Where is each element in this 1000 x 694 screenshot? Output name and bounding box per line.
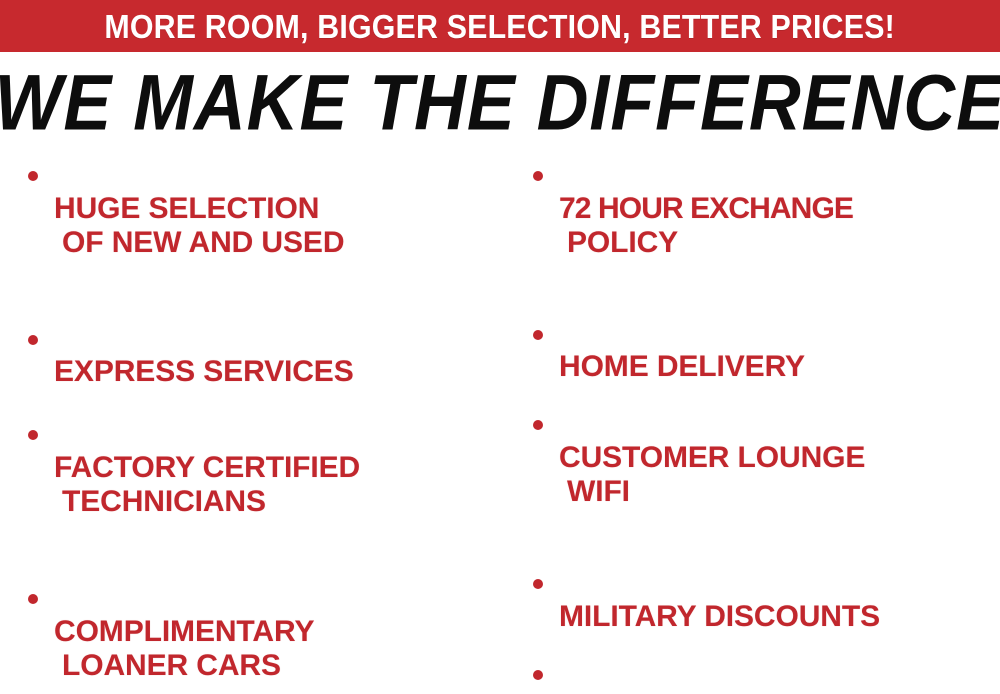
list-item: FACTORY CERTIFIED TECHNICIANS — [22, 417, 494, 553]
promo-poster: MORE ROOM, BIGGER SELECTION, BETTER PRIC… — [0, 0, 1000, 694]
top-banner: MORE ROOM, BIGGER SELECTION, BETTER PRIC… — [0, 0, 1000, 52]
list-item-line2: OF NEW AND USED — [54, 226, 494, 260]
list-item-line1: HOME DELIVERY — [559, 350, 805, 383]
list-item-line2: LOANER CARS — [54, 649, 494, 683]
list-item-line2: WIFI — [559, 475, 998, 509]
benefits-column-right: 72 HOUR EXCHANGE POLICY HOME DELIVERY CU… — [500, 158, 1000, 694]
list-item-line1: EXPRESS SERVICES — [54, 355, 354, 388]
headline-container: WE MAKE THE DIFFERENCE — [0, 64, 1000, 142]
page-title: WE MAKE THE DIFFERENCE — [0, 64, 1000, 142]
list-item-line1: HUGE SELECTION — [54, 192, 319, 225]
list-item-line1: CUSTOMER LOUNGE — [559, 441, 865, 474]
list-item: HOME DELIVERY — [527, 317, 998, 385]
benefits-columns: HUGE SELECTION OF NEW AND USED EXPRESS S… — [0, 158, 1000, 694]
list-item: MILITARY DISCOUNTS — [527, 566, 998, 634]
list-item-line2: POLICY — [559, 226, 998, 260]
banner-headline-text: MORE ROOM, BIGGER SELECTION, BETTER PRIC… — [105, 10, 896, 43]
list-item-line1: MILITARY DISCOUNTS — [559, 600, 880, 633]
benefits-column-left: HUGE SELECTION OF NEW AND USED EXPRESS S… — [0, 158, 500, 694]
list-item: 72 HOUR EXCHANGE POLICY — [527, 158, 998, 294]
list-item-line1: COMPLIMENTARY — [54, 615, 314, 648]
list-item: HUGE SELECTION OF NEW AND USED — [22, 158, 494, 294]
list-item-line1: FAMILY OWNED AND — [559, 691, 860, 694]
list-item-line1: 72 HOUR EXCHANGE — [559, 192, 853, 225]
list-item: COMPLIMENTARY LOANER CARS — [22, 581, 494, 694]
list-item: CUSTOMER LOUNGE WIFI — [527, 407, 998, 543]
list-item: FAMILY OWNED AND OPERATED — [527, 657, 998, 694]
list-item: EXPRESS SERVICES — [22, 322, 494, 390]
list-item-line1: FACTORY CERTIFIED — [54, 451, 360, 484]
list-item-line2: TECHNICIANS — [54, 485, 494, 519]
